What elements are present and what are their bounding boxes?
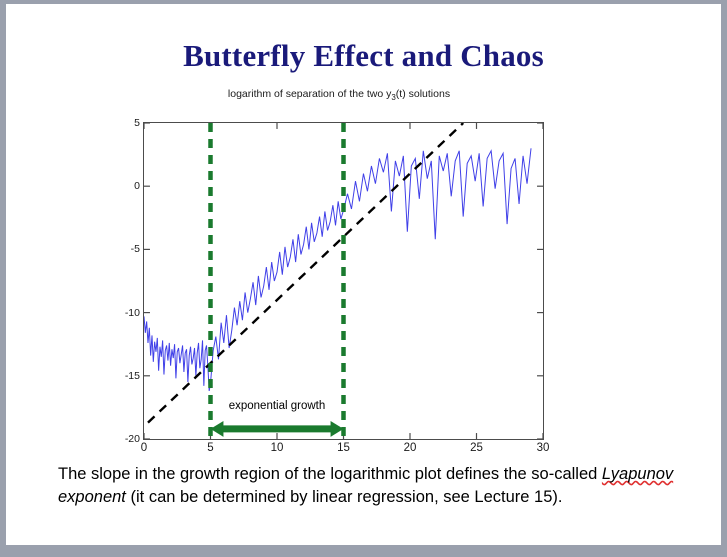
page-title: Butterfly Effect and Chaos xyxy=(6,38,721,74)
caption-emphasis-term: Lyapunov xyxy=(602,465,673,483)
x-tick-label: 15 xyxy=(337,442,350,454)
axis-ticks xyxy=(144,123,543,439)
x-tick-label: 0 xyxy=(141,442,147,454)
x-tick-label: 5 xyxy=(207,442,213,454)
caption-part-2: (it can be determined by linear regressi… xyxy=(126,488,563,506)
data-series-line xyxy=(144,148,531,391)
chart-svg xyxy=(144,123,543,439)
slide-canvas: Butterfly Effect and Chaos logarithm of … xyxy=(6,4,721,545)
chart-plot-area: 5 0 -5 -10 -15 -20 0 5 10 15 20 25 30 xyxy=(143,122,544,440)
x-tick-label: 20 xyxy=(404,442,417,454)
x-tick-label: 30 xyxy=(537,442,550,454)
figure-container: logarithm of separation of the two y3(t)… xyxy=(104,88,574,460)
chart-title-prefix: logarithm of separation of the two y xyxy=(228,88,391,100)
chart-title: logarithm of separation of the two y3(t)… xyxy=(104,88,574,102)
caption-part-1: The slope in the growth region of the lo… xyxy=(58,465,602,483)
regression-fit-line xyxy=(148,123,463,423)
y-tick-label: -10 xyxy=(125,307,140,319)
y-tick-label: -5 xyxy=(131,243,140,255)
y-tick-label: 5 xyxy=(134,117,140,129)
x-tick-label: 10 xyxy=(271,442,284,454)
exponential-growth-label: exponential growth xyxy=(226,399,329,413)
y-tick-label: -15 xyxy=(125,370,140,382)
y-tick-label: -20 xyxy=(125,433,140,445)
chart-title-suffix: (t) solutions xyxy=(396,88,450,100)
x-tick-label: 25 xyxy=(470,442,483,454)
y-tick-label: 0 xyxy=(134,180,140,192)
caption-emphasis-rest: exponent xyxy=(58,488,126,506)
slide-caption: The slope in the growth region of the lo… xyxy=(58,463,688,509)
